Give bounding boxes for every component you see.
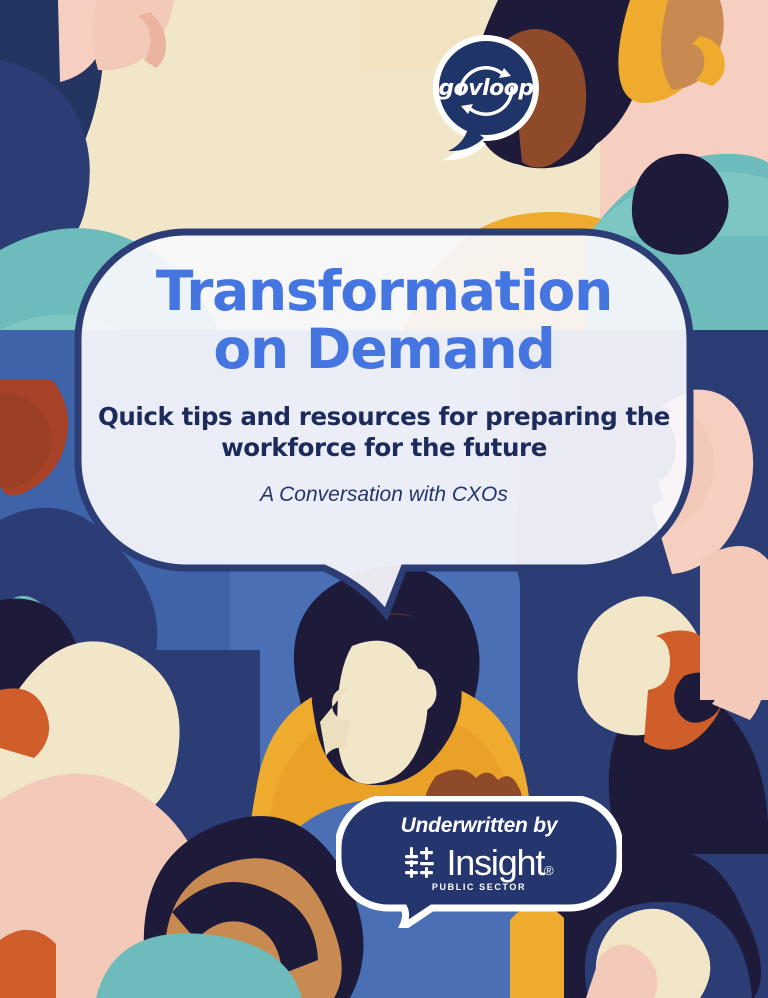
govloop-logo-badge: govloop — [428, 32, 544, 164]
sponsor-badge: Underwritten by — [336, 796, 622, 928]
page-subtitle: Quick tips and resources for preparing t… — [96, 401, 672, 464]
title-line-1: Transformation — [96, 262, 672, 320]
sponsor-tagline: PUBLIC SECTOR — [336, 882, 622, 892]
underwritten-label: Underwritten by — [336, 814, 622, 838]
sponsor-wordmark: Insight® — [446, 845, 552, 881]
insight-sliders-grid-icon — [405, 846, 439, 880]
title-line-2: on Demand — [96, 320, 672, 378]
govloop-bubble-shape — [428, 32, 544, 164]
subtitle-line-2: workforce for the future — [96, 432, 672, 463]
registered-mark: ® — [544, 863, 552, 878]
subtitle-line-1: Quick tips and resources for preparing t… — [96, 401, 672, 432]
title-speech-bubble: Transformation on Demand Quick tips and … — [74, 228, 694, 628]
page-kicker: A Conversation with CXOs — [96, 483, 672, 507]
page-title: Transformation on Demand — [96, 262, 672, 379]
report-cover: govloop Transformation on Demand Quick t… — [0, 0, 768, 998]
